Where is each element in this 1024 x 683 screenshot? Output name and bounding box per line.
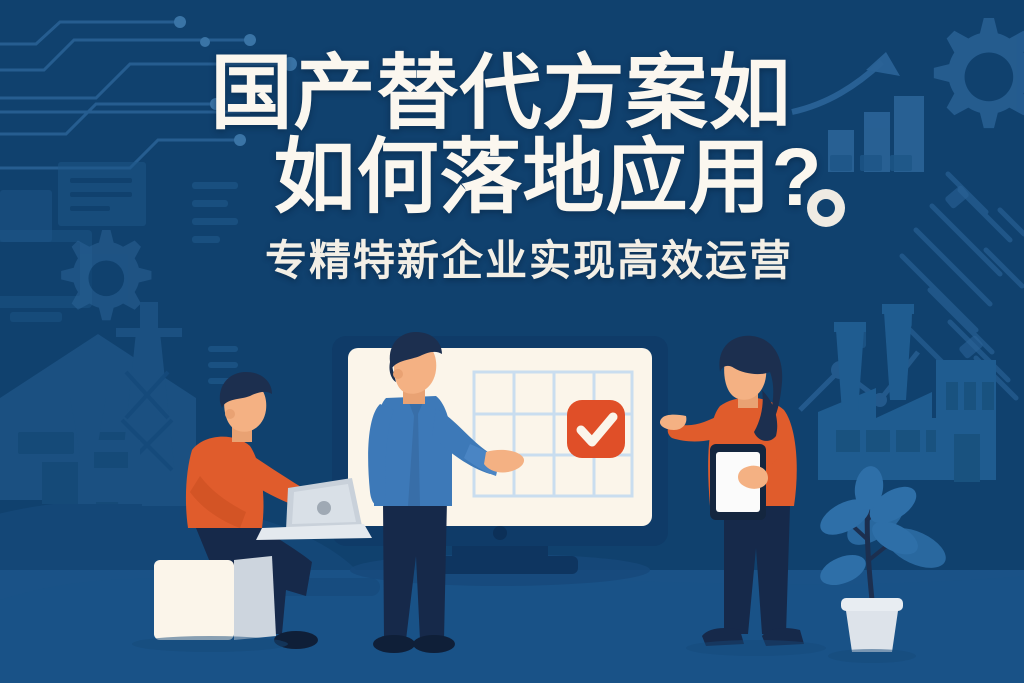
- poster-canvas: 国产替代方案如 如何落地应用? 专精特新企业实现高效运营: [0, 0, 1024, 683]
- laptop-logo: [317, 501, 331, 515]
- plant-shadow: [828, 649, 916, 663]
- analyst-pants: [724, 506, 790, 634]
- analyst-shadow: [686, 640, 826, 656]
- scene-illustration-layer: [0, 0, 1024, 683]
- presenter-shoe-right: [413, 635, 455, 653]
- cube-front: [154, 560, 234, 640]
- plant-leaf-4: [816, 549, 870, 591]
- analyst-with-tablet: [660, 336, 826, 656]
- presenter-ear: [393, 369, 403, 379]
- seated-ear: [225, 409, 235, 419]
- plant-pot-rim: [841, 598, 903, 611]
- plant-pot: [845, 604, 899, 652]
- white-seat-cube: [132, 556, 288, 652]
- cube-shadow: [132, 636, 288, 652]
- potted-plant: [815, 464, 924, 663]
- approved-check-badge: [567, 400, 625, 458]
- monitor-power-dot: [493, 526, 507, 540]
- cube-side: [234, 556, 276, 640]
- laptop-base: [256, 524, 372, 540]
- presenter-shoe-left: [373, 635, 415, 653]
